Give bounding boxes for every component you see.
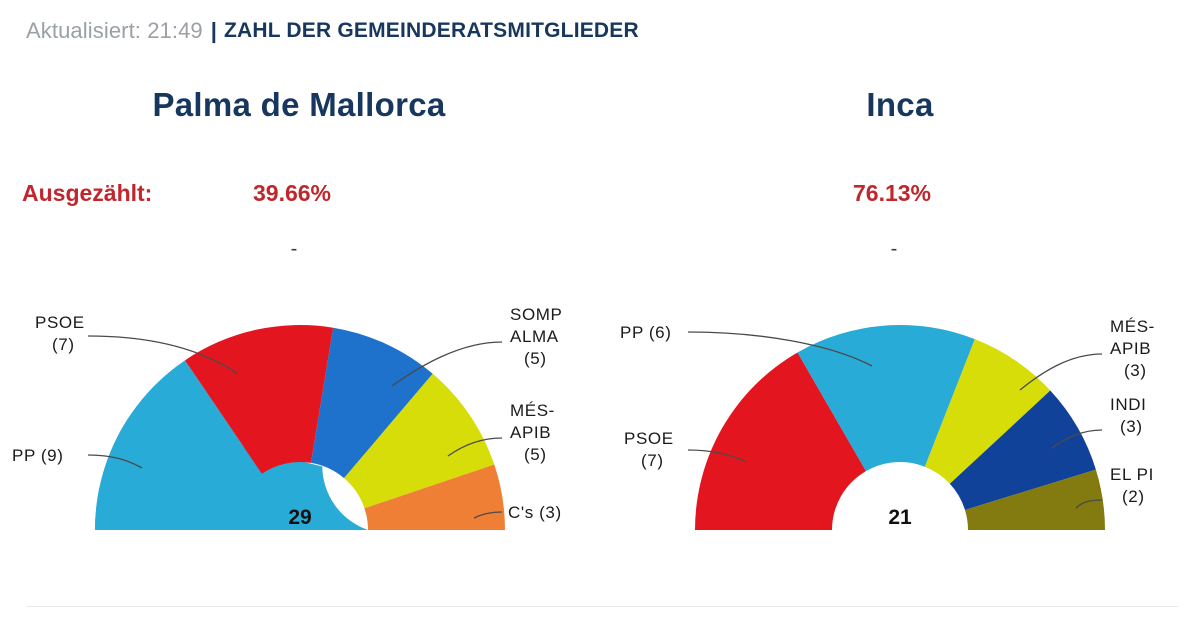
hemicycle-svg-palma: 29 PSOE (7) PP (9) <box>0 262 600 562</box>
callout-indi-line-1: INDI <box>1110 395 1146 414</box>
hemicycle-svg-inca: 21 PP (6) PSOE (7) <box>600 262 1200 562</box>
page-title: ZAHL DER GEMEINDERATSMITGLIEDER <box>224 19 639 43</box>
callout-pp-line-1: PP (9) <box>12 446 63 465</box>
callout-mes-line-2: APIB <box>510 423 551 442</box>
counted-row-inca: 76.13% <box>600 180 1200 210</box>
callout-mes-line-3: (5) <box>524 445 547 464</box>
callout-cs: C's (3) <box>508 503 562 522</box>
page-header: Aktualisiert: 21:49 | ZAHL DER GEMEINDER… <box>0 0 1200 62</box>
counted-value-palma: 39.66% <box>0 180 592 207</box>
bottom-divider <box>26 606 1178 607</box>
callout-elpi-line-1: EL PI <box>1110 465 1154 484</box>
hemicycle-slices-inca <box>695 325 1105 530</box>
election-seats-page: Aktualisiert: 21:49 | ZAHL DER GEMEINDER… <box>0 0 1200 621</box>
callout-mes-line-1: MÉS- <box>510 401 555 420</box>
chart-title-palma: Palma de Mallorca <box>0 86 599 124</box>
callout-pp-line-1: PP (6) <box>620 323 671 342</box>
callout-mes-apib: MÉS- APIB (3) <box>1110 317 1155 380</box>
callout-sompalma-line-1: SOMP <box>510 305 562 324</box>
chart-panel-inca: Inca 76.13% - <box>600 62 1200 567</box>
callout-pp: PP (6) <box>620 323 671 342</box>
callout-indi-line-2: (3) <box>1120 417 1143 436</box>
callout-psoe-line-1: PSOE <box>35 313 85 332</box>
dash-marker-palma: - <box>0 244 594 254</box>
charts-container: Palma de Mallorca Ausgezählt: 39.66% - <box>0 62 1200 567</box>
callout-pp: PP (9) <box>12 446 63 465</box>
callout-psoe-line-2: (7) <box>52 335 75 354</box>
hemicycle-chart-palma: 29 PSOE (7) PP (9) <box>0 262 600 562</box>
chart-title-inca: Inca <box>600 86 1200 124</box>
callout-mes-line-1: MÉS- <box>1110 317 1155 336</box>
callout-mes-line-3: (3) <box>1124 361 1147 380</box>
counted-row-palma: Ausgezählt: 39.66% <box>0 180 600 210</box>
callout-psoe-line-1: PSOE <box>624 429 674 448</box>
callout-mes-line-2: APIB <box>1110 339 1151 358</box>
callout-psoe: PSOE (7) <box>624 429 674 470</box>
callout-psoe-line-2: (7) <box>641 451 664 470</box>
callout-psoe: PSOE (7) <box>35 313 85 354</box>
callout-indi: INDI (3) <box>1110 395 1146 436</box>
dash-marker-inca: - <box>594 244 1194 254</box>
callout-sompalma-line-3: (5) <box>524 349 547 368</box>
updated-timestamp: Aktualisiert: 21:49 <box>26 18 203 44</box>
callout-cs-line-1: C's (3) <box>508 503 562 522</box>
total-seats-inca: 21 <box>888 506 912 529</box>
callout-elpi: EL PI (2) <box>1110 465 1154 506</box>
counted-value-inca: 76.13% <box>592 180 1192 207</box>
callout-elpi-line-2: (2) <box>1122 487 1145 506</box>
total-seats-palma: 29 <box>288 506 311 529</box>
callout-sompalma-line-2: ALMA <box>510 327 559 346</box>
chart-panel-palma: Palma de Mallorca Ausgezählt: 39.66% - <box>0 62 600 567</box>
callout-sompalma: SOMP ALMA (5) <box>510 305 562 368</box>
callout-mes-apib: MÉS- APIB (5) <box>510 401 555 464</box>
header-separator: | <box>211 18 217 44</box>
hemicycle-chart-inca: 21 PP (6) PSOE (7) <box>600 262 1200 562</box>
